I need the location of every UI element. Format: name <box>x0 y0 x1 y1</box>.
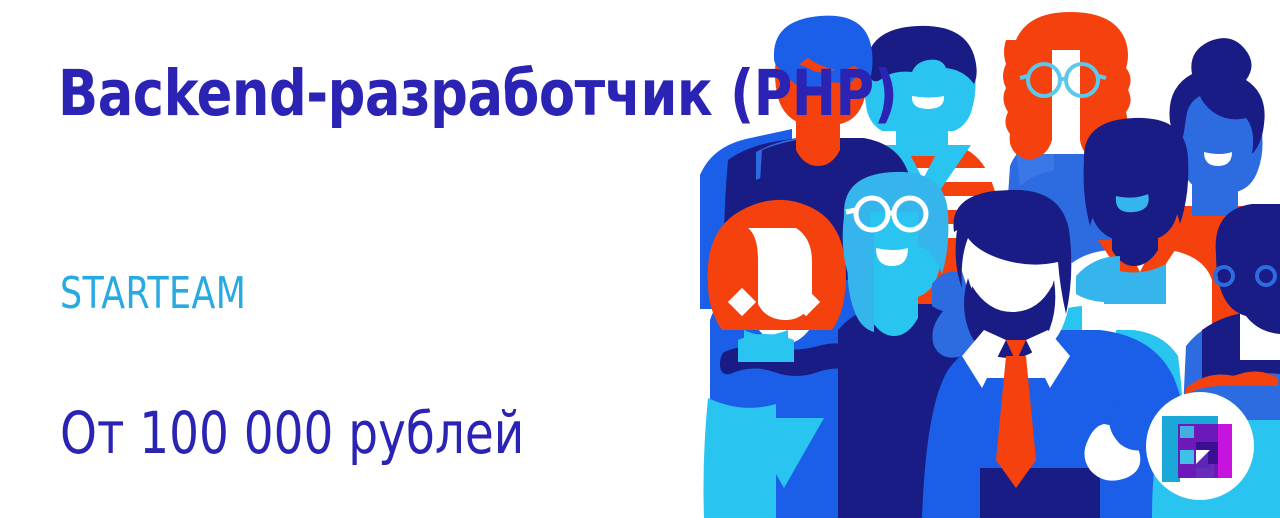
company-name: STARTEAM <box>60 272 246 316</box>
vacancy-banner: Backend-разработчик (PHP) STARTEAM От 10… <box>0 0 1280 518</box>
starteam-logo[interactable] <box>1146 392 1254 500</box>
logo-mark <box>1162 416 1232 482</box>
page-title: Backend-разработчик (PHP) <box>58 62 663 125</box>
salary-text: От 100 000 рублей <box>60 404 524 462</box>
text-panel: Backend-разработчик (PHP) STARTEAM От 10… <box>0 0 710 518</box>
